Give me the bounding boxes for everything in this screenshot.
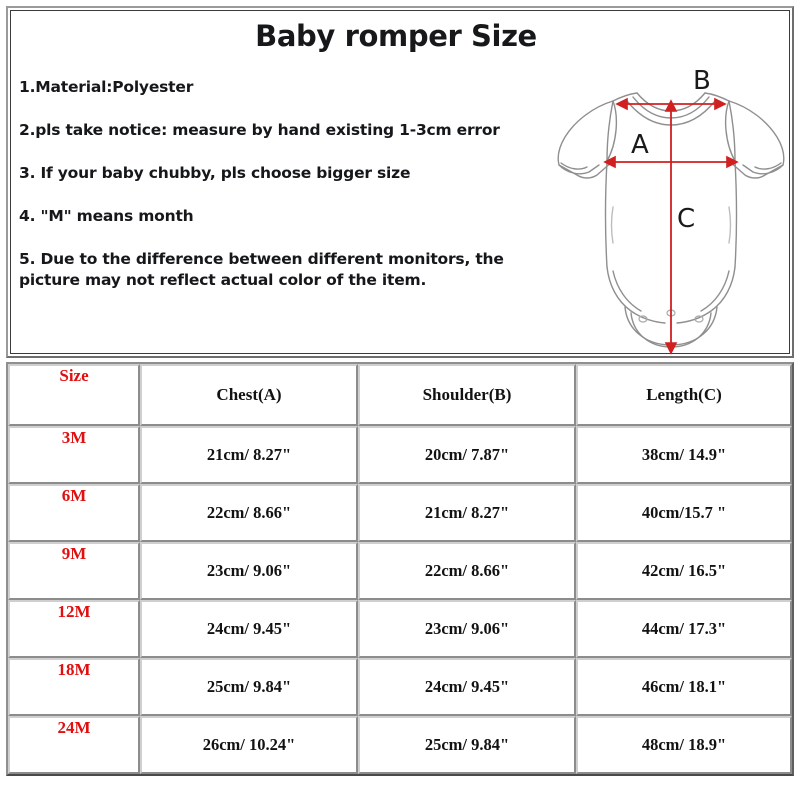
- info-panel-inner-border: Baby romper Size 1.Material:Polyester 2.…: [10, 10, 790, 354]
- cell-size: 6M: [8, 484, 140, 542]
- label-b: B: [693, 66, 711, 96]
- note-item-3: 3. If your baby chubby, pls choose bigge…: [19, 163, 539, 184]
- cell-length: 48cm/ 18.9": [576, 716, 792, 774]
- note-item-5: 5. Due to the difference between differe…: [19, 249, 539, 291]
- cell-chest: 26cm/ 10.24": [140, 716, 358, 774]
- cell-length: 44cm/ 17.3": [576, 600, 792, 658]
- header-size: Size: [8, 364, 140, 426]
- label-a: A: [631, 130, 649, 160]
- cell-size: 12M: [8, 600, 140, 658]
- table-header-row: Size Chest(A) Shoulder(B) Length(C): [8, 364, 792, 426]
- cell-length: 42cm/ 16.5": [576, 542, 792, 600]
- cell-chest: 25cm/ 9.84": [140, 658, 358, 716]
- notes-list: 1.Material:Polyester 2.pls take notice: …: [19, 77, 539, 291]
- cell-shoulder: 21cm/ 8.27": [358, 484, 576, 542]
- size-table: Size Chest(A) Shoulder(B) Length(C) 3M 2…: [6, 362, 794, 776]
- header-length: Length(C): [576, 364, 792, 426]
- cell-chest: 22cm/ 8.66": [140, 484, 358, 542]
- cell-length: 38cm/ 14.9": [576, 426, 792, 484]
- table-row: 6M 22cm/ 8.66" 21cm/ 8.27" 40cm/15.7 ": [8, 484, 792, 542]
- cell-chest: 23cm/ 9.06": [140, 542, 358, 600]
- page-title: Baby romper Size: [11, 19, 781, 53]
- table-row: 9M 23cm/ 9.06" 22cm/ 8.66" 42cm/ 16.5": [8, 542, 792, 600]
- romper-diagram: B A C: [547, 57, 795, 357]
- cell-shoulder: 22cm/ 8.66": [358, 542, 576, 600]
- table-row: 12M 24cm/ 9.45" 23cm/ 9.06" 44cm/ 17.3": [8, 600, 792, 658]
- label-c: C: [677, 204, 695, 234]
- note-item-2: 2.pls take notice: measure by hand exist…: [19, 120, 539, 141]
- cell-length: 46cm/ 18.1": [576, 658, 792, 716]
- cell-shoulder: 20cm/ 7.87": [358, 426, 576, 484]
- header-chest: Chest(A): [140, 364, 358, 426]
- table-row: 24M 26cm/ 10.24" 25cm/ 9.84" 48cm/ 18.9": [8, 716, 792, 774]
- info-panel: Baby romper Size 1.Material:Polyester 2.…: [6, 6, 794, 358]
- cell-chest: 24cm/ 9.45": [140, 600, 358, 658]
- cell-shoulder: 25cm/ 9.84": [358, 716, 576, 774]
- cell-size: 9M: [8, 542, 140, 600]
- note-item-4: 4. "M" means month: [19, 206, 539, 227]
- cell-size: 3M: [8, 426, 140, 484]
- cell-size: 18M: [8, 658, 140, 716]
- size-chart-page: Baby romper Size 1.Material:Polyester 2.…: [0, 0, 800, 800]
- cell-shoulder: 23cm/ 9.06": [358, 600, 576, 658]
- table-row: 3M 21cm/ 8.27" 20cm/ 7.87" 38cm/ 14.9": [8, 426, 792, 484]
- cell-length: 40cm/15.7 ": [576, 484, 792, 542]
- cell-shoulder: 24cm/ 9.45": [358, 658, 576, 716]
- header-shoulder: Shoulder(B): [358, 364, 576, 426]
- cell-size: 24M: [8, 716, 140, 774]
- table-row: 18M 25cm/ 9.84" 24cm/ 9.45" 46cm/ 18.1": [8, 658, 792, 716]
- note-item-1: 1.Material:Polyester: [19, 77, 539, 98]
- cell-chest: 21cm/ 8.27": [140, 426, 358, 484]
